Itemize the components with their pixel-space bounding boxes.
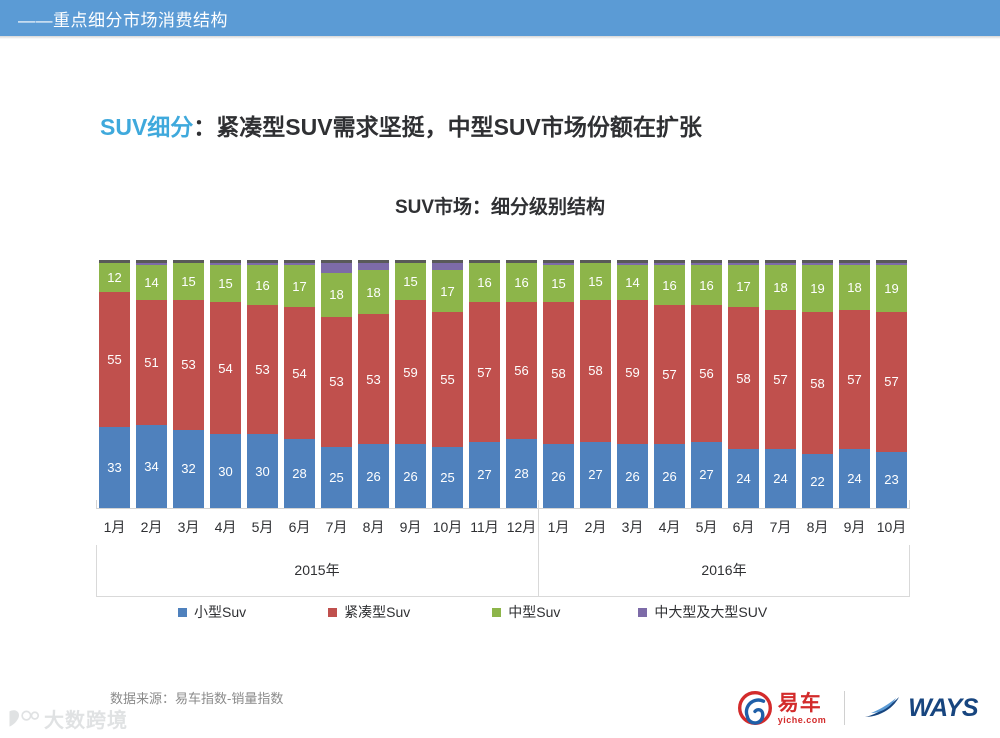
bar-segment: 16 bbox=[654, 265, 685, 304]
headline-rest: ：紧凑型SUV需求坚挺，中型SUV市场份额在扩张 bbox=[193, 114, 702, 140]
bar-segment-value: 58 bbox=[551, 367, 565, 380]
bar-column: 165727 bbox=[466, 260, 503, 508]
bar-segment: 18 bbox=[765, 265, 796, 309]
bar-segment-value: 17 bbox=[440, 285, 454, 298]
bar-segment: 15 bbox=[210, 265, 241, 302]
month-label: 11月 bbox=[466, 509, 503, 545]
legend-swatch-icon bbox=[638, 608, 647, 617]
bar-segment: 18 bbox=[321, 273, 352, 317]
month-label: 9月 bbox=[836, 509, 873, 545]
bar-segment-value: 54 bbox=[292, 367, 306, 380]
bar-segment-value: 57 bbox=[662, 368, 676, 381]
bar-segment: 15 bbox=[580, 263, 611, 300]
bar-segment-value: 25 bbox=[440, 471, 454, 484]
month-label: 6月 bbox=[281, 509, 318, 545]
bar-segment-value: 12 bbox=[107, 271, 121, 284]
bar-segment: 15 bbox=[543, 265, 574, 302]
bar-segment: 26 bbox=[617, 444, 648, 508]
bar-segment-value: 53 bbox=[255, 363, 269, 376]
bar-segment-value: 16 bbox=[662, 279, 676, 292]
stacked-bar: 1175428 bbox=[284, 260, 315, 508]
stacked-bar: 1165330 bbox=[247, 260, 278, 508]
bar-column: 155827 bbox=[577, 260, 614, 508]
bar-segment-value: 56 bbox=[514, 364, 528, 377]
stacked-bar: 4185325 bbox=[321, 260, 352, 508]
bar-segment-value: 55 bbox=[440, 373, 454, 386]
stacked-bar: 1195822 bbox=[802, 260, 833, 508]
bar-segment-value: 26 bbox=[403, 470, 417, 483]
bar-segment: 30 bbox=[210, 434, 241, 508]
bar-segment-value: 57 bbox=[477, 366, 491, 379]
month-label: 2月 bbox=[577, 509, 614, 545]
bar-column: 1165330 bbox=[244, 260, 281, 508]
bar-segment: 17 bbox=[728, 265, 759, 307]
bar-segment: 53 bbox=[321, 317, 352, 447]
bar-segment: 57 bbox=[765, 310, 796, 450]
bar-segment: 55 bbox=[432, 312, 463, 447]
bar-segment: 33 bbox=[99, 427, 130, 508]
x-axis-left-tick bbox=[96, 500, 97, 509]
watermark: 大数跨境 bbox=[6, 704, 128, 733]
bar-segment-value: 15 bbox=[588, 275, 602, 288]
bar-column: 125533 bbox=[96, 260, 133, 508]
chart-legend: 小型Suv紧凑型Suv中型Suv中大型及大型SUV bbox=[96, 600, 910, 624]
year-label-2016: 2016年 bbox=[538, 548, 910, 592]
bar-segment-value: 53 bbox=[366, 373, 380, 386]
bar-segment: 58 bbox=[728, 307, 759, 449]
bar-segment: 57 bbox=[876, 312, 907, 452]
slide-page: ——重点细分市场消费结构 SUV细分：紧凑型SUV需求坚挺，中型SUV市场份额在… bbox=[0, 0, 1000, 738]
bar-segment: 51 bbox=[136, 300, 167, 425]
stacked-bar: 1185724 bbox=[765, 260, 796, 508]
bar-segment: 58 bbox=[580, 300, 611, 442]
bar-segment-value: 16 bbox=[699, 279, 713, 292]
bar-segment: 17 bbox=[432, 270, 463, 312]
bar-segment-value: 27 bbox=[588, 468, 602, 481]
bar-segment: 27 bbox=[691, 442, 722, 508]
bar-segment: 57 bbox=[469, 302, 500, 442]
month-label-row: 1月2月3月4月5月6月7月8月9月10月11月12月1月2月3月4月5月6月7… bbox=[96, 509, 910, 545]
month-label: 10月 bbox=[429, 509, 466, 545]
bar-column: 1145926 bbox=[614, 260, 651, 508]
legend-item[interactable]: 紧凑型Suv bbox=[328, 602, 410, 622]
stacked-bar: 1195723 bbox=[876, 260, 907, 508]
chart-title: SUV市场：细分级别结构 bbox=[0, 192, 1000, 219]
bar-segment: 25 bbox=[432, 447, 463, 508]
bar-segment: 54 bbox=[210, 302, 241, 434]
month-label: 7月 bbox=[318, 509, 355, 545]
bar-segment: 15 bbox=[395, 263, 426, 300]
month-label: 5月 bbox=[688, 509, 725, 545]
bar-segment-value: 15 bbox=[218, 277, 232, 290]
bar-segment: 24 bbox=[839, 449, 870, 508]
bar-segment-value: 28 bbox=[292, 467, 306, 480]
month-label: 2月 bbox=[133, 509, 170, 545]
bar-column: 1145134 bbox=[133, 260, 170, 508]
yiche-logo: 易车 yiche.com bbox=[738, 691, 827, 725]
bar-segment-value: 54 bbox=[218, 362, 232, 375]
bar-segment: 16 bbox=[506, 263, 537, 302]
bar-segment-value: 24 bbox=[773, 472, 787, 485]
bar-segment-value: 18 bbox=[773, 281, 787, 294]
stacked-bar: 165727 bbox=[469, 260, 500, 508]
stacked-bar: 1155430 bbox=[210, 260, 241, 508]
bar-segment: 53 bbox=[173, 300, 204, 430]
bar-segment-value: 51 bbox=[144, 356, 158, 369]
legend-swatch-icon bbox=[178, 608, 187, 617]
bar-segment: 59 bbox=[617, 300, 648, 445]
bar-segment-value: 57 bbox=[884, 375, 898, 388]
stacked-bar: 1165627 bbox=[691, 260, 722, 508]
bar-segment: 28 bbox=[284, 439, 315, 508]
bar-segment-value: 26 bbox=[366, 470, 380, 483]
bar-column: 165628 bbox=[503, 260, 540, 508]
stacked-bar: 1145134 bbox=[136, 260, 167, 508]
year-label-2015: 2015年 bbox=[96, 548, 538, 592]
bar-segment: 15 bbox=[173, 263, 204, 300]
bar-segment: 16 bbox=[247, 265, 278, 304]
bar-column: 155926 bbox=[392, 260, 429, 508]
bar-segment: 34 bbox=[136, 425, 167, 508]
logo-divider bbox=[844, 691, 845, 725]
bar-segment: 14 bbox=[136, 265, 167, 299]
bar-segment: 53 bbox=[247, 305, 278, 435]
bar-column: 155332 bbox=[170, 260, 207, 508]
bar-segment-value: 56 bbox=[699, 367, 713, 380]
month-label: 5月 bbox=[244, 509, 281, 545]
stacked-bar: 1145926 bbox=[617, 260, 648, 508]
bar-segment: 3 bbox=[432, 263, 463, 270]
yiche-logo-cn: 易车 bbox=[778, 693, 822, 714]
legend-item[interactable]: 中大型及大型SUV bbox=[638, 602, 767, 622]
stacked-bar: 1185724 bbox=[839, 260, 870, 508]
bar-column: 1185724 bbox=[836, 260, 873, 508]
ways-logo: WAYS bbox=[863, 694, 978, 723]
stacked-bar: 3175525 bbox=[432, 260, 463, 508]
month-label: 8月 bbox=[799, 509, 836, 545]
banner-title: ——重点细分市场消费结构 bbox=[0, 6, 228, 31]
legend-item[interactable]: 中型Suv bbox=[492, 602, 560, 622]
bar-segment: 25 bbox=[321, 447, 352, 508]
legend-label: 中大型及大型SUV bbox=[654, 602, 767, 622]
source-note: 数据来源：易车指数-销量指数 bbox=[110, 688, 283, 707]
legend-item[interactable]: 小型Suv bbox=[178, 602, 246, 622]
bar-column: 1195723 bbox=[873, 260, 910, 508]
stacked-bar: 155926 bbox=[395, 260, 426, 508]
bar-segment-value: 28 bbox=[514, 467, 528, 480]
group-baseline bbox=[96, 596, 910, 597]
bar-segment-value: 18 bbox=[847, 281, 861, 294]
bar-segment: 18 bbox=[839, 265, 870, 309]
month-label: 6月 bbox=[725, 509, 762, 545]
bar-column: 1195822 bbox=[799, 260, 836, 508]
bar-segment-value: 17 bbox=[292, 280, 306, 293]
bar-segment-value: 25 bbox=[329, 471, 343, 484]
bar-segment-value: 26 bbox=[625, 470, 639, 483]
bar-segment: 28 bbox=[506, 439, 537, 508]
bar-segment: 24 bbox=[728, 449, 759, 508]
bar-segment: 16 bbox=[691, 265, 722, 304]
watermark-logo-icon bbox=[6, 708, 40, 730]
yiche-swirl-icon bbox=[738, 691, 772, 725]
ways-wave-icon bbox=[863, 695, 903, 721]
header-banner: ——重点细分市场消费结构 bbox=[0, 0, 1000, 36]
bar-segment-value: 15 bbox=[403, 275, 417, 288]
bar-segment: 23 bbox=[876, 452, 907, 508]
month-label: 3月 bbox=[614, 509, 651, 545]
month-label: 8月 bbox=[355, 509, 392, 545]
bar-segment-value: 16 bbox=[255, 279, 269, 292]
bar-segment: 56 bbox=[691, 305, 722, 442]
bar-segment-value: 32 bbox=[181, 462, 195, 475]
bar-column: 1165726 bbox=[651, 260, 688, 508]
month-label: 4月 bbox=[651, 509, 688, 545]
stacked-bar: 155827 bbox=[580, 260, 611, 508]
bar-segment: 18 bbox=[358, 270, 389, 314]
bar-segment: 26 bbox=[395, 444, 426, 508]
bar-segment: 19 bbox=[802, 265, 833, 312]
stacked-bar: 125533 bbox=[99, 260, 130, 508]
headline-accent: SUV细分 bbox=[100, 114, 193, 140]
bar-segment: 24 bbox=[765, 449, 796, 508]
bar-segment: 56 bbox=[506, 302, 537, 439]
bar-segment: 17 bbox=[284, 265, 315, 307]
legend-label: 小型Suv bbox=[194, 602, 246, 622]
bar-segment-value: 15 bbox=[181, 275, 195, 288]
bar-segment-value: 27 bbox=[699, 468, 713, 481]
stacked-bar: 155332 bbox=[173, 260, 204, 508]
watermark-text: 大数跨境 bbox=[44, 704, 128, 733]
bar-column: 3175525 bbox=[429, 260, 466, 508]
bar-segment-value: 19 bbox=[884, 282, 898, 295]
bar-segment: 12 bbox=[99, 263, 130, 292]
x-axis-right-tick bbox=[909, 500, 910, 509]
bar-segment-value: 16 bbox=[477, 276, 491, 289]
bar-segment-value: 30 bbox=[255, 465, 269, 478]
bar-segment: 26 bbox=[654, 444, 685, 508]
legend-swatch-icon bbox=[492, 608, 501, 617]
bar-segment-value: 22 bbox=[810, 475, 824, 488]
legend-swatch-icon bbox=[328, 608, 337, 617]
month-label: 4月 bbox=[207, 509, 244, 545]
chart-area: 1255331145134155332115543011653301175428… bbox=[96, 248, 910, 584]
bar-segment-value: 15 bbox=[551, 277, 565, 290]
month-label: 10月 bbox=[873, 509, 910, 545]
bar-segment-value: 27 bbox=[477, 468, 491, 481]
bar-segment: 26 bbox=[543, 444, 574, 508]
legend-label: 紧凑型Suv bbox=[344, 602, 410, 622]
bar-column: 1165627 bbox=[688, 260, 725, 508]
bar-column: 1155430 bbox=[207, 260, 244, 508]
bar-segment: 30 bbox=[247, 434, 278, 508]
stacked-bar: 1165726 bbox=[654, 260, 685, 508]
bar-segment-value: 24 bbox=[736, 472, 750, 485]
bar-segment: 3 bbox=[358, 263, 389, 270]
bar-segment-value: 14 bbox=[144, 276, 158, 289]
bar-segment-value: 53 bbox=[181, 358, 195, 371]
bar-segment: 4 bbox=[321, 263, 352, 273]
bar-segment-value: 59 bbox=[625, 366, 639, 379]
footer-logos: 易车 yiche.com WAYS bbox=[738, 686, 978, 730]
bar-segment-value: 26 bbox=[662, 470, 676, 483]
bar-segment-value: 17 bbox=[736, 280, 750, 293]
bar-segment-value: 30 bbox=[218, 465, 232, 478]
bar-segment: 14 bbox=[617, 265, 648, 299]
bar-segment-value: 57 bbox=[847, 373, 861, 386]
bar-segment-value: 53 bbox=[329, 375, 343, 388]
stacked-bar-plot: 1255331145134155332115543011653301175428… bbox=[96, 248, 910, 508]
stacked-bar: 3185326 bbox=[358, 260, 389, 508]
bar-segment-value: 57 bbox=[773, 373, 787, 386]
bar-segment: 59 bbox=[395, 300, 426, 445]
month-label: 3月 bbox=[170, 509, 207, 545]
bar-segment-value: 26 bbox=[551, 470, 565, 483]
ways-logo-text: WAYS bbox=[908, 694, 978, 723]
banner-shadow bbox=[0, 36, 1000, 39]
bar-segment-value: 58 bbox=[810, 377, 824, 390]
bar-segment: 54 bbox=[284, 307, 315, 439]
bar-segment: 57 bbox=[839, 310, 870, 450]
bar-segment: 32 bbox=[173, 430, 204, 508]
bar-segment: 16 bbox=[469, 263, 500, 302]
bar-segment-value: 55 bbox=[107, 353, 121, 366]
bar-segment: 22 bbox=[802, 454, 833, 508]
month-label: 1月 bbox=[96, 509, 133, 545]
stacked-bar: 1175824 bbox=[728, 260, 759, 508]
bar-segment: 53 bbox=[358, 314, 389, 444]
bar-segment-value: 59 bbox=[403, 366, 417, 379]
month-label: 12月 bbox=[503, 509, 540, 545]
bar-column: 1185724 bbox=[762, 260, 799, 508]
bar-segment-value: 58 bbox=[736, 372, 750, 385]
yiche-logo-domain: yiche.com bbox=[778, 716, 827, 725]
bar-segment-value: 23 bbox=[884, 473, 898, 486]
bar-segment: 27 bbox=[469, 442, 500, 508]
stacked-bar: 1155826 bbox=[543, 260, 574, 508]
bar-column: 1175824 bbox=[725, 260, 762, 508]
bar-segment: 26 bbox=[358, 444, 389, 508]
legend-label: 中型Suv bbox=[508, 602, 560, 622]
bar-segment-value: 18 bbox=[329, 288, 343, 301]
bar-column: 4185325 bbox=[318, 260, 355, 508]
bar-column: 3185326 bbox=[355, 260, 392, 508]
stacked-bar: 165628 bbox=[506, 260, 537, 508]
bar-segment-value: 16 bbox=[514, 276, 528, 289]
month-label: 7月 bbox=[762, 509, 799, 545]
bar-segment: 58 bbox=[802, 312, 833, 454]
month-label: 9月 bbox=[392, 509, 429, 545]
bar-segment: 57 bbox=[654, 305, 685, 445]
bar-segment: 27 bbox=[580, 442, 611, 508]
bar-segment-value: 24 bbox=[847, 472, 861, 485]
month-label: 1月 bbox=[540, 509, 577, 545]
bar-segment-value: 58 bbox=[588, 364, 602, 377]
bar-column: 1175428 bbox=[281, 260, 318, 508]
bar-segment-value: 34 bbox=[144, 460, 158, 473]
bar-column: 1155826 bbox=[540, 260, 577, 508]
bar-segment: 55 bbox=[99, 292, 130, 427]
page-headline: SUV细分：紧凑型SUV需求坚挺，中型SUV市场份额在扩张 bbox=[100, 108, 702, 142]
year-label-row: 2015年 2016年 bbox=[96, 548, 910, 592]
bar-segment-value: 33 bbox=[107, 461, 121, 474]
bar-segment-value: 18 bbox=[366, 286, 380, 299]
bar-segment-value: 14 bbox=[625, 276, 639, 289]
bar-segment: 19 bbox=[876, 265, 907, 312]
bar-segment: 58 bbox=[543, 302, 574, 444]
bar-segment-value: 19 bbox=[810, 282, 824, 295]
